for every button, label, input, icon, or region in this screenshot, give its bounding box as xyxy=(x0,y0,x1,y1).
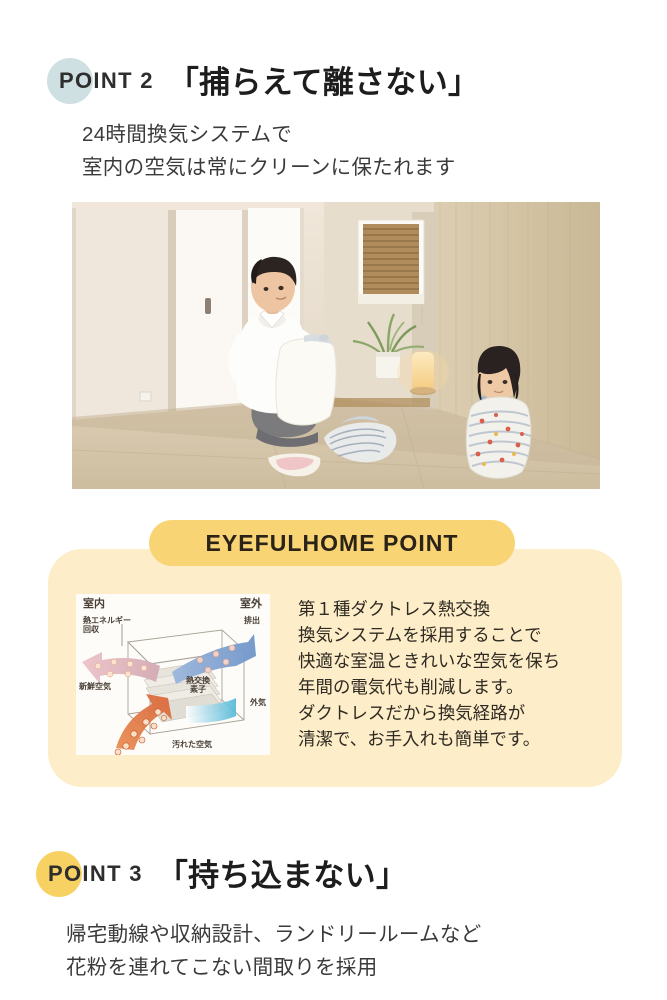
diagram-label-indoor: 室内 xyxy=(83,598,105,611)
diagram-label-heat-recovery: 熱エネルギー 回収 xyxy=(83,616,131,634)
diagram-label-fresh-air: 新鮮空気 xyxy=(79,682,111,691)
diagram-label-outdoor: 室外 xyxy=(240,598,262,611)
point2-lead-line1: 24時間換気システムで xyxy=(82,118,602,151)
diagram-label-heat-exchanger: 熱交換 素子 xyxy=(186,676,210,694)
diagram-label-exhaust: 排出 xyxy=(244,616,260,625)
point2-lead: 24時間換気システムで 室内の空気は常にクリーンに保たれます xyxy=(82,118,602,184)
point2-photo xyxy=(72,202,600,489)
point3-label: POINT 3 xyxy=(48,861,143,887)
point2-heading: POINT 2 「捕らえて離さない」 xyxy=(47,58,479,104)
eyefulhome-point-pill: EYEFULHOME POINT xyxy=(149,520,515,566)
point2-label: POINT 2 xyxy=(59,68,154,94)
panel-text-line-5: ダクトレスだから換気経路が xyxy=(298,701,608,727)
point2-title: 「捕らえて離さない」 xyxy=(168,57,480,102)
eyefulhome-point-text: 第１種ダクトレス熱交換 換気システムを採用することで 快適な室温ときれいな空気を… xyxy=(298,597,608,753)
point3-heading: POINT 3 「持ち込まない」 xyxy=(36,851,407,897)
point2-lead-line2: 室内の空気は常にクリーンに保たれます xyxy=(82,151,602,184)
eyefulhome-point-pill-label: EYEFULHOME POINT xyxy=(206,530,459,557)
photo-scene-illustration xyxy=(72,202,600,489)
point3-lead-line1: 帰宅動線や収納設計、ランドリールームなど xyxy=(66,918,626,951)
panel-text-line-4: 年間の電気代も削減します。 xyxy=(298,675,608,701)
panel-text-line-2: 換気システムを採用することで xyxy=(298,623,608,649)
diagram-label-dirty-air: 汚れた空気 xyxy=(172,740,212,749)
page-root: POINT 2 「捕らえて離さない」 24時間換気システムで 室内の空気は常にク… xyxy=(0,0,667,1000)
point3-lead-line2: 花粉を連れてこない間取りを採用 xyxy=(66,951,626,984)
panel-text-line-1: 第１種ダクトレス熱交換 xyxy=(298,597,608,623)
heat-exchange-diagram: 室内 室外 熱エネルギー 回収 排出 新鮮空気 熱交換 素子 外気 汚れた空気 xyxy=(76,594,270,755)
panel-text-line-3: 快適な室温ときれいな空気を保ち xyxy=(298,649,608,675)
diagram-label-outside-air: 外気 xyxy=(250,698,266,707)
point3-lead: 帰宅動線や収納設計、ランドリールームなど 花粉を連れてこない間取りを採用 xyxy=(66,918,626,984)
point3-title: 「持ち込まない」 xyxy=(157,850,407,895)
panel-text-line-6: 清潔で、お手入れも簡単です。 xyxy=(298,727,608,753)
